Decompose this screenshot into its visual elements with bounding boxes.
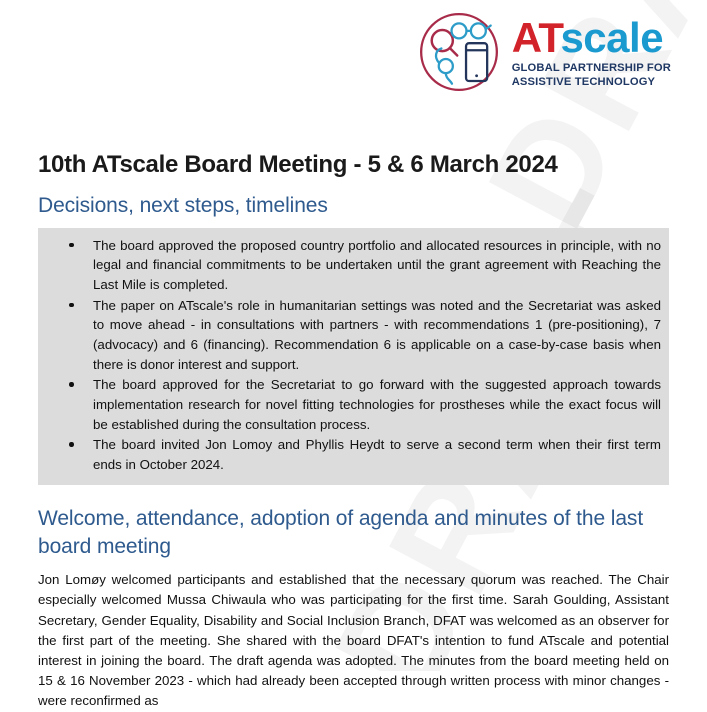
list-item-text: The board approved for the Secretariat t… <box>93 377 661 431</box>
document-title: 10th ATscale Board Meeting - 5 & 6 March… <box>38 150 669 180</box>
welcome-paragraph: Jon Lomøy welcomed participants and esta… <box>38 570 669 711</box>
atscale-tagline: GLOBAL PARTNERSHIP FOR ASSISTIVE TECHNOL… <box>512 61 671 90</box>
decisions-highlight-block: The board approved the proposed country … <box>38 228 669 485</box>
bullet-dot-icon <box>69 382 74 387</box>
atscale-logo-mark-icon <box>415 8 503 96</box>
tagline-line-1: GLOBAL PARTNERSHIP FOR <box>512 61 671 75</box>
hearing-aid-icon <box>436 48 453 83</box>
atscale-logo-wordmark-group: ATscale GLOBAL PARTNERSHIP FOR ASSISTIVE… <box>512 15 671 90</box>
atscale-wordmark: ATscale <box>512 17 671 58</box>
document-content: 10th ATscale Board Meeting - 5 & 6 March… <box>38 150 669 712</box>
bullet-dot-icon <box>69 442 74 447</box>
section-heading-decisions: Decisions, next steps, timelines <box>38 192 669 220</box>
document-header: ATscale GLOBAL PARTNERSHIP FOR ASSISTIVE… <box>0 8 707 108</box>
tagline-line-2: ASSISTIVE TECHNOLOGY <box>512 75 671 89</box>
logo-word-at: AT <box>512 14 561 61</box>
decisions-bullet-list: The board approved the proposed country … <box>46 236 661 475</box>
circle-outline-icon <box>421 14 497 90</box>
document-page: ATscale GLOBAL PARTNERSHIP FOR ASSISTIVE… <box>0 0 707 671</box>
list-item: The paper on ATscale's role in humanitar… <box>46 296 661 375</box>
list-item-text: The board invited Jon Lomoy and Phyllis … <box>93 437 661 472</box>
magnifier-icon <box>431 30 457 56</box>
list-item: The board approved the proposed country … <box>46 236 661 295</box>
bullet-dot-icon <box>69 303 74 308</box>
logo-word-scale: scale <box>560 14 663 61</box>
list-item-text: The board approved the proposed country … <box>93 238 661 292</box>
section-heading-welcome: Welcome, attendance, adoption of agenda … <box>38 505 669 560</box>
eyeglasses-icon <box>451 23 490 38</box>
bullet-dot-icon <box>69 243 74 248</box>
list-item: The board approved for the Secretariat t… <box>46 375 661 434</box>
list-item: The board invited Jon Lomoy and Phyllis … <box>46 435 661 474</box>
list-item-text: The paper on ATscale's role in humanitar… <box>93 298 661 372</box>
atscale-logo: ATscale GLOBAL PARTNERSHIP FOR ASSISTIVE… <box>415 8 671 96</box>
smartphone-icon <box>466 43 487 81</box>
